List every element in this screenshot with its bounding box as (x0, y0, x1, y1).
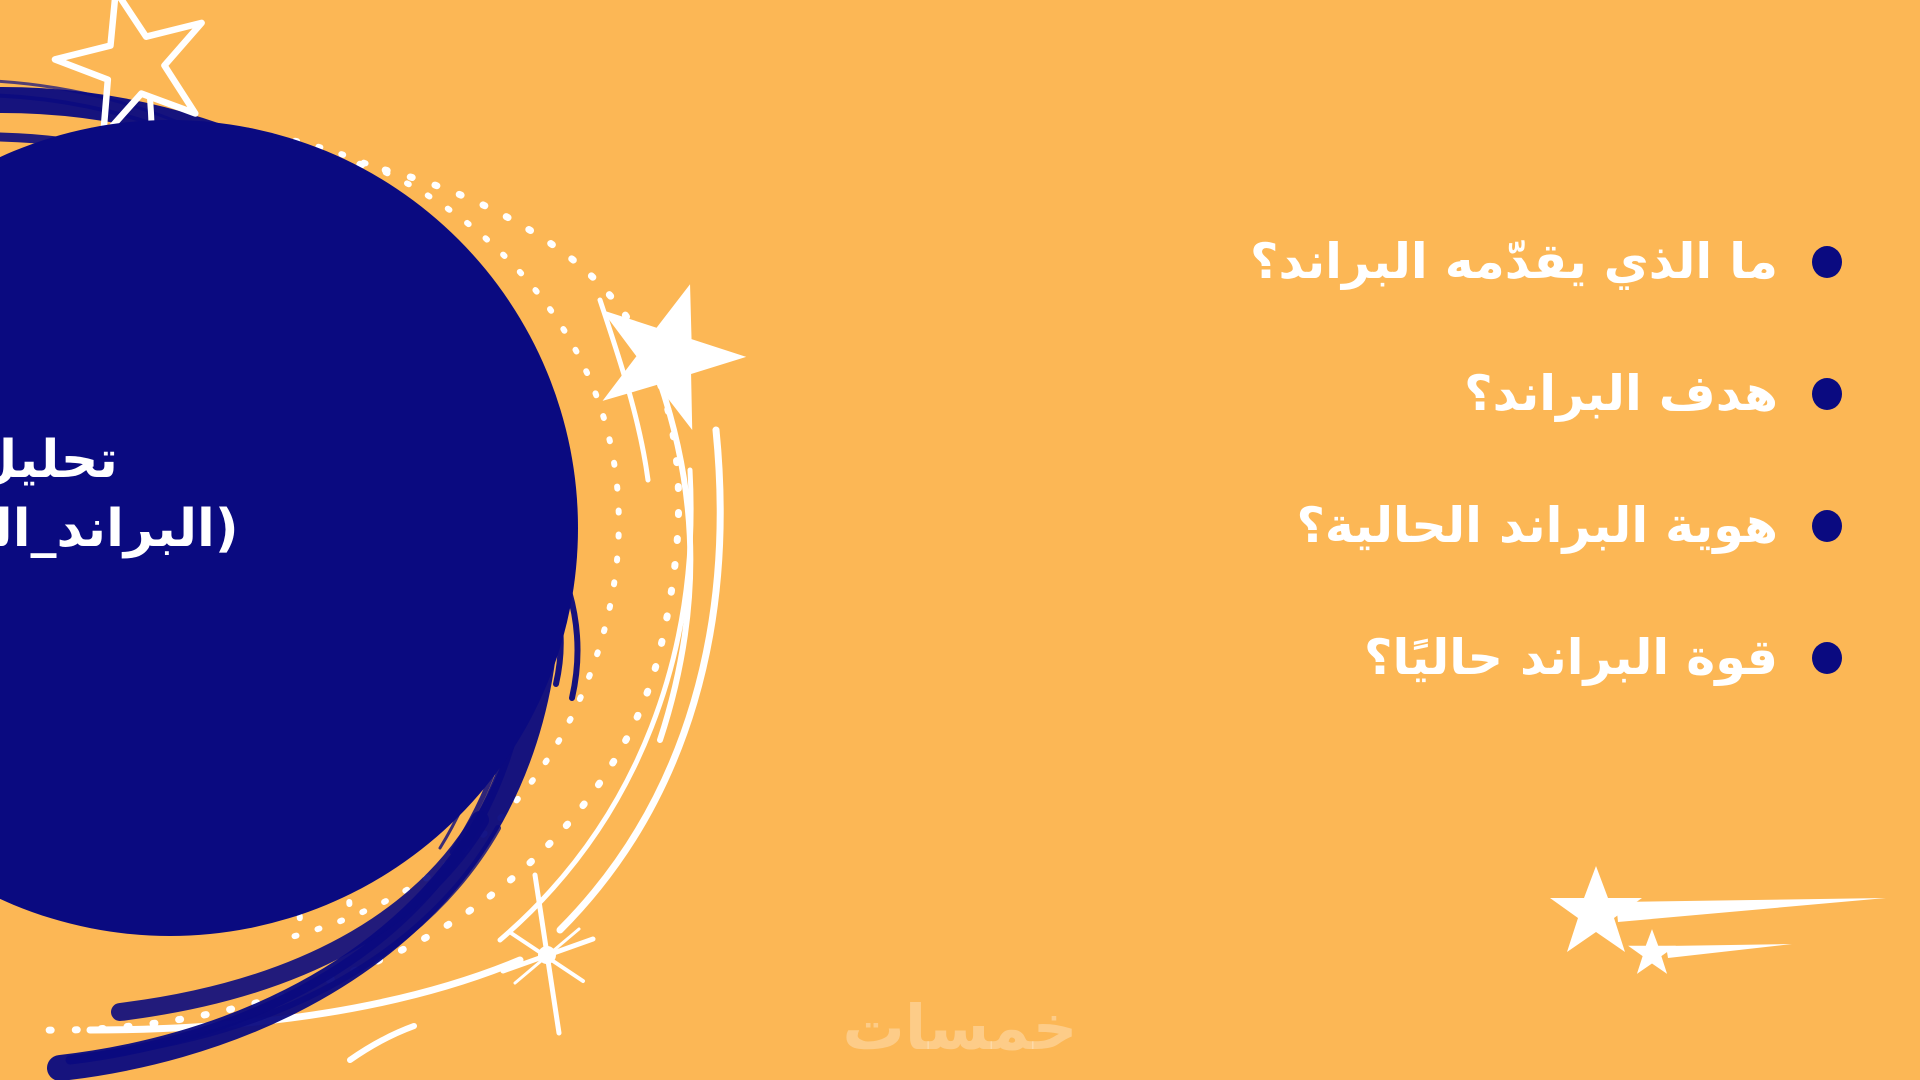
sparkle-icon (503, 875, 593, 1033)
bullet-label: هدف البراند؟ (1464, 363, 1778, 424)
bullet-item-3: هوية البراند الحالية؟ (802, 460, 1842, 592)
slide-canvas: تحليل (البراند_الهوية) ما الذي يقدّمه ال… (0, 0, 1920, 1080)
sparkle-streak (350, 1026, 414, 1060)
bullet-label: ما الذي يقدّمه البراند؟ (1250, 231, 1778, 292)
brush-flick (540, 548, 578, 698)
dotted-arc-short (240, 690, 350, 930)
bullet-dot-icon (1812, 642, 1842, 674)
star-icon (575, 261, 762, 439)
bullet-label: هوية البراند الحالية؟ (1296, 495, 1778, 556)
watermark: خمسات (843, 991, 1078, 1064)
bullet-dot-icon (1812, 246, 1842, 278)
star-outline-icon (42, 0, 222, 143)
badge-title: تحليل (البراند_الهوية) (0, 430, 340, 561)
bullet-item-4: قوة البراند حاليًا؟ (802, 592, 1842, 724)
brush-ring-group (0, 80, 547, 1068)
dotted-arc-outer (28, 153, 679, 1030)
badge-title-line-1: تحليل (0, 430, 340, 491)
white-arc-group (90, 300, 720, 1030)
bullet-dot-icon (1812, 510, 1842, 542)
star-outline-tail (146, 98, 152, 222)
bullet-item-2: هدف البراند؟ (802, 328, 1842, 460)
bullet-dot-icon (1812, 378, 1842, 410)
shooting-star-icon (1550, 866, 1886, 974)
bullet-label: قوة البراند حاليًا؟ (1364, 627, 1778, 688)
bullet-item-1: ما الذي يقدّمه البراند؟ (802, 196, 1842, 328)
bullet-list: ما الذي يقدّمه البراند؟ هدف البراند؟ هوي… (802, 196, 1842, 724)
badge-title-line-2: (البراند_الهوية) (0, 499, 340, 560)
